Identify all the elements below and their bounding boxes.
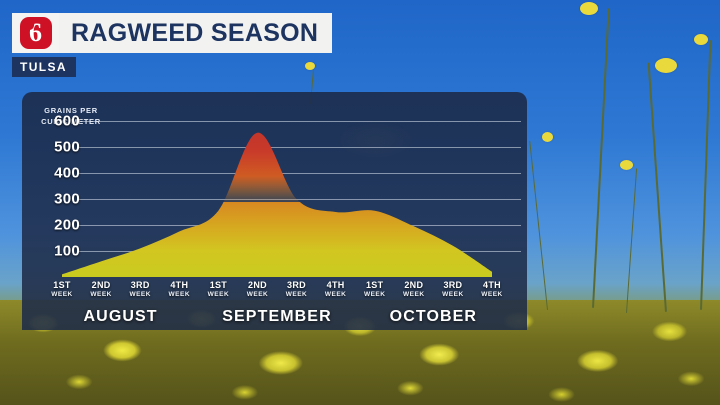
x-axis-week-tick: 3RDWEEK [286,280,308,298]
week-word: WEEK [442,291,464,298]
channel-six-icon: 6 [20,17,52,49]
week-ordinal: 4TH [169,280,191,290]
week-ordinal: 4TH [325,280,347,290]
x-axis-week-tick: 1STWEEK [51,280,73,298]
week-ordinal: 3RD [286,280,308,290]
week-word: WEEK [481,291,503,298]
x-axis-week-tick: 4THWEEK [325,280,347,298]
x-axis-week-labels: 1STWEEK2NDWEEK3RDWEEK4THWEEK1STWEEK2NDWE… [22,280,527,306]
week-ordinal: 3RD [129,280,151,290]
x-axis-month-label: AUGUST [84,308,158,326]
week-ordinal: 1ST [364,280,386,290]
x-axis-month-label: SEPTEMBER [222,308,331,326]
logo-number: 6 [29,20,42,46]
x-axis-week-tick: 2NDWEEK [247,280,269,298]
week-word: WEEK [208,291,230,298]
x-axis-week-tick: 4THWEEK [481,280,503,298]
week-ordinal: 2ND [247,280,269,290]
week-word: WEEK [90,291,112,298]
chart-panel: GRAINS PER CUBIC METER 60050040030020010… [22,92,527,330]
plant-bud [542,132,553,142]
week-ordinal: 1ST [208,280,230,290]
plant-bud [694,34,708,45]
station-logo: 6 [12,13,59,53]
x-axis-week-tick: 2NDWEEK [90,280,112,298]
header: 6 RAGWEED SEASON [12,13,332,53]
week-word: WEEK [364,291,386,298]
title-bar: RAGWEED SEASON [59,13,332,53]
week-word: WEEK [51,291,73,298]
x-axis-week-tick: 3RDWEEK [129,280,151,298]
station-city-badge: TULSA [12,57,76,77]
week-word: WEEK [325,291,347,298]
x-axis-week-tick: 4THWEEK [169,280,191,298]
week-word: WEEK [247,291,269,298]
plant-bud [580,2,598,15]
x-axis-month-labels: AUGUSTSEPTEMBEROCTOBER [22,308,527,330]
week-ordinal: 1ST [51,280,73,290]
week-word: WEEK [286,291,308,298]
x-axis-month-label: OCTOBER [390,308,477,326]
weather-graphic: 6 RAGWEED SEASON TULSA GRAINS PER CUBIC … [0,0,720,405]
x-axis-week-tick: 1STWEEK [208,280,230,298]
plant-bud [620,160,633,170]
week-ordinal: 4TH [481,280,503,290]
week-word: WEEK [129,291,151,298]
week-word: WEEK [169,291,191,298]
week-ordinal: 2ND [90,280,112,290]
x-axis-week-tick: 2NDWEEK [403,280,425,298]
x-axis-week-tick: 1STWEEK [364,280,386,298]
x-axis-week-tick: 3RDWEEK [442,280,464,298]
page-title: RAGWEED SEASON [71,19,318,48]
week-ordinal: 3RD [442,280,464,290]
plant-bud [655,58,677,73]
week-ordinal: 2ND [403,280,425,290]
week-word: WEEK [403,291,425,298]
